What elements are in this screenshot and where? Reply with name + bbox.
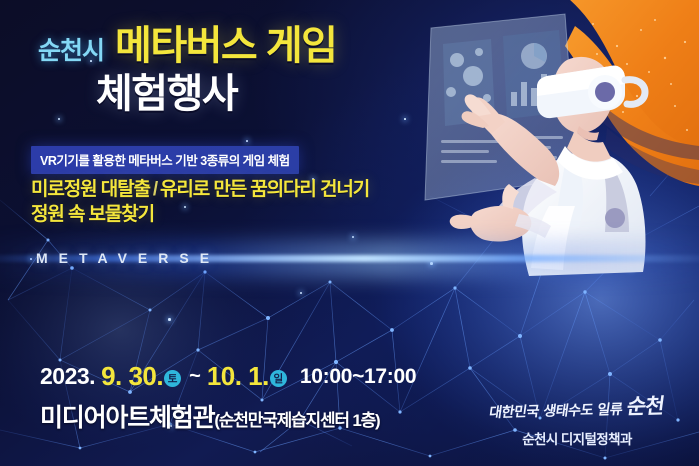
date-range-tilde: ~ [183,365,207,388]
date-start: 9. 30. [95,361,163,392]
event-poster: 순천시 메타버스 게임 체험행사 VR기기를 활용한 메타버스 기반 3종류의 … [0,0,699,466]
game-separator: / [150,179,160,200]
event-time: 10:00~17:00 [289,365,416,389]
headline-block: 순천시 메타버스 게임 체험행사 [0,26,400,114]
city-label: 순천시 [38,31,104,67]
date-end: 10. 1. [207,361,269,392]
game-list: 미로정원 대탈출/유리로 만든 꿈의다리 건너기 정원 속 보물찾기 [31,177,361,227]
title-yellow: 메타버스 게임 [115,26,336,66]
slogan-small-text: 대한민국 생태수도 일류 [488,402,623,421]
venue-line: 미디어아트체험관(순천만국제습지센터 1층) [40,398,380,434]
venue-name: 미디어아트체험관 [40,404,214,432]
city-slogan-calligraphy: 대한민국 생태수도 일류 순천 [488,390,666,424]
vr-woman-illustration [379,0,699,330]
metaverse-wordmark: METAVERSE [36,250,220,266]
game-2-label: 유리로 만든 꿈의다리 건너기 [160,179,369,200]
headline-line-1: 순천시 메타버스 게임 [0,26,400,67]
title-white: 체험행사 [0,74,400,114]
event-date-row: 2023. 9. 30. 토 ~ 10. 1. 일 10:00~17:00 [40,361,416,392]
date-year: 2023. [40,363,95,390]
subtitle-band: VR기기를 활용한 메타버스 기반 3종류의 게임 체험 [31,146,299,174]
game-1-label: 미로정원 대탈출 [31,179,150,200]
game-list-row-1: 미로정원 대탈출/유리로 만든 꿈의다리 건너기 [31,177,361,202]
suncheon-logo-block: 대한민국 생태수도 일류 순천 순천시 디지털정책과 [477,392,677,448]
day-badge-sunday: 일 [270,370,287,387]
slogan-city-name: 순천 [626,393,666,419]
venue-address: (순천만국제습지센터 1층) [214,411,379,430]
department-label: 순천시 디지털정책과 [477,428,677,448]
day-badge-saturday: 토 [164,370,181,387]
game-list-row-2: 정원 속 보물찾기 [31,202,361,227]
